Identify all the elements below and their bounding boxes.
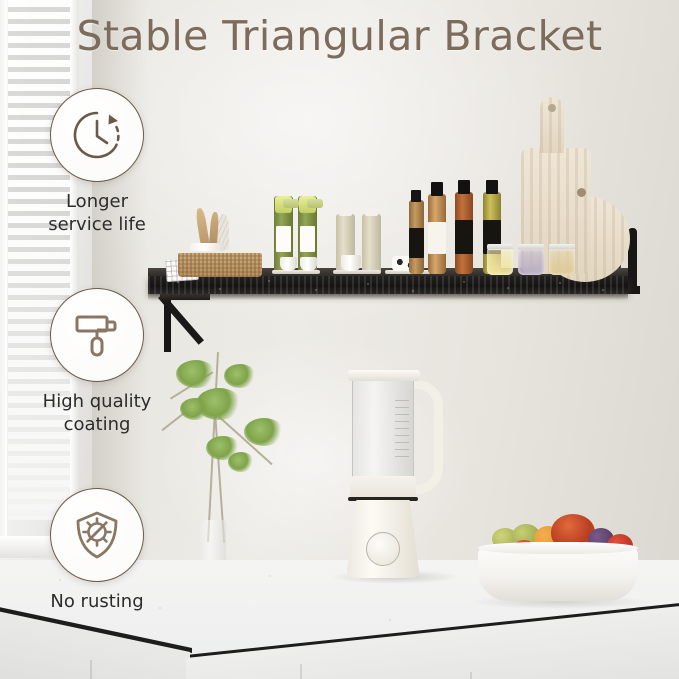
feature-label-line1: High quality: [22, 391, 172, 414]
storage-jar: [487, 249, 513, 275]
feature-high-quality-coating[interactable]: High quality coating: [22, 288, 172, 436]
leaf-cluster: [176, 360, 216, 388]
feature-label-line1: Longer: [22, 191, 172, 214]
blender: [340, 366, 445, 581]
blender-lid: [348, 370, 420, 381]
board-hole: [577, 188, 586, 197]
bottle-cap: [339, 208, 352, 216]
feature-icon-circle: [50, 88, 144, 182]
shield-no-rust-icon: [69, 507, 125, 563]
bottle-label: [300, 226, 315, 252]
wall-mounted-cup: [307, 199, 323, 208]
feature-label-line2: coating: [22, 414, 172, 437]
storage-jar: [518, 249, 544, 275]
bottle-label: [428, 222, 446, 254]
product-marketing-image: Stable Triangular Bracket Longer service…: [0, 0, 679, 679]
coffee-mug: [341, 255, 361, 271]
blender-collar: [350, 476, 416, 498]
shelf-texture: [148, 276, 628, 294]
bottle-cap: [365, 208, 378, 216]
paint-roller-icon: [70, 308, 124, 362]
coffee-mug: [280, 257, 297, 271]
bottle-label: [409, 228, 424, 258]
clock-arrow-icon: [68, 106, 126, 164]
feature-longer-service-life[interactable]: Longer service life: [22, 88, 172, 236]
wall-mounted-cup: [283, 199, 299, 208]
leaf-cluster: [224, 364, 256, 388]
blender-control-knob[interactable]: [366, 532, 400, 566]
feature-label-line2: service life: [22, 214, 172, 237]
blender-measurement-marks: [395, 400, 409, 462]
bottle-label: [276, 226, 291, 252]
storage-jar: [549, 249, 575, 275]
feature-label: High quality coating: [22, 391, 172, 436]
bottle-label: [455, 220, 473, 254]
feature-icon-circle: [50, 288, 144, 382]
feature-label: Longer service life: [22, 191, 172, 236]
bottle-cap: [431, 182, 443, 196]
saucer: [272, 270, 320, 274]
shelf-underside-shadow: [148, 294, 628, 300]
page-title: Stable Triangular Bracket: [0, 12, 679, 60]
bottle-cap: [486, 180, 498, 194]
bottle-cap: [458, 180, 470, 194]
cabinet-seam: [90, 660, 92, 679]
milk-bottle: [362, 214, 381, 274]
blinds-light-fade: [8, 0, 70, 520]
feature-label: No rusting: [22, 591, 172, 614]
saucer: [333, 270, 381, 274]
feature-icon-circle: [50, 488, 144, 582]
cabinet-seam: [300, 664, 302, 679]
leaf-cluster: [244, 418, 284, 446]
woven-basket: [178, 253, 262, 277]
leaf-cluster: [180, 398, 210, 420]
window-frame-left: [0, 0, 7, 545]
cabinet-seam: [470, 672, 472, 679]
feature-no-rusting[interactable]: No rusting: [22, 488, 172, 614]
board-hole: [548, 104, 556, 112]
bottle-cap: [411, 190, 421, 202]
feature-label-line1: No rusting: [22, 591, 172, 614]
window-frame-right: [70, 0, 79, 545]
leaf-cluster: [228, 452, 254, 472]
coffee-mug: [300, 257, 317, 271]
fruit-bowl-rim: [478, 542, 638, 554]
